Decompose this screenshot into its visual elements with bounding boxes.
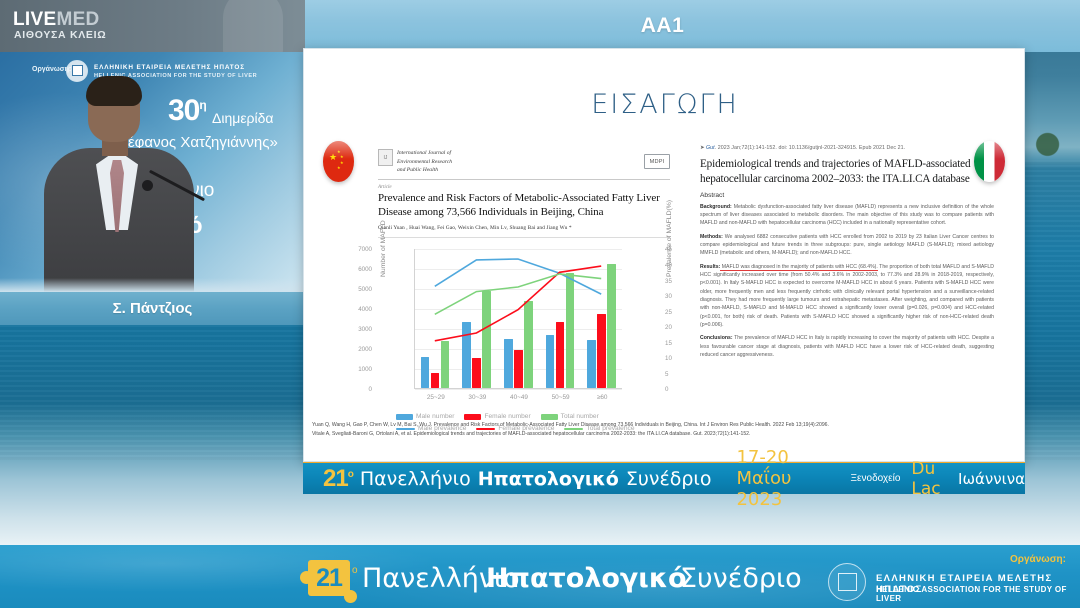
chart-ytick-right: 30 <box>665 293 691 300</box>
screen: LIVEMED ΑΙΘΟΥΣΑ ΚΛΕΙΩ AA1 Οργάνωση: ΕΛΛΗ… <box>0 0 1080 608</box>
page-footer: 21 ο Πανελλήνιο Ηπατολογικό Συνέδριο Οργ… <box>0 545 1080 608</box>
chart-ytick-right: 25 <box>665 309 691 316</box>
right-article-citation: ➤ Gut. 2023 Jan;72(1):141-152. doi: 10.1… <box>700 145 994 151</box>
footer-word3: Συνέδριο <box>680 563 802 594</box>
journal-identity: IJ International Journal of Environmenta… <box>378 149 452 175</box>
footer-number-sup: ο <box>352 565 358 576</box>
abstract-section-text: The proportion of both total MAFLD and S… <box>700 264 994 328</box>
chart-ytick-right: 15 <box>665 340 691 347</box>
chart-bar <box>431 373 440 388</box>
abstract-section-text: Metabolic dysfunction-associated fatty l… <box>700 204 994 227</box>
footer-number: 21 <box>316 564 342 593</box>
chart-bar <box>597 314 606 389</box>
citation-line: Vitale A, Svegliati-Baroni G, Ortolani A… <box>312 430 1018 439</box>
microphone-head-icon <box>142 180 153 191</box>
chart-ytick-left: 3000 <box>338 326 372 333</box>
livemed-med-text: MED <box>56 9 99 30</box>
flag-gloss <box>323 141 354 159</box>
left-article-title: Prevalence and Risk Factors of Metabolic… <box>378 192 670 220</box>
conference-dates: 17-20 Μαΐου 2023 <box>736 447 836 510</box>
journal-name-line1: International Journal of <box>397 149 452 158</box>
divider <box>378 179 670 180</box>
china-flag-icon: ★ ★ ★ ★ ★ <box>323 141 354 182</box>
abstract-section: Conclusions: The prevalence of MAFLD HCC… <box>700 334 994 359</box>
chart-bar-group <box>504 301 533 389</box>
video-bottom-fade <box>0 278 305 292</box>
abstract-section: Methods: We analysed 6882 consecutive pa… <box>700 233 994 258</box>
footer-society-en: HELLENIC ASSOCIATION FOR THE STUDY OF LI… <box>876 585 1080 603</box>
left-article: IJ International Journal of Environmenta… <box>378 149 670 454</box>
chart-xtick: 50~59 <box>541 394 581 401</box>
chart-bar <box>421 357 430 388</box>
chart-bar <box>514 350 523 388</box>
livemed-logo: LIVEMED <box>13 9 100 31</box>
chart-plot-area: 0100020003000400050006000700005101520253… <box>414 249 622 389</box>
conference-hotel-name: Du Lac <box>911 459 947 499</box>
conference-number: 21 <box>323 465 348 492</box>
chart-xtick: ≥60 <box>582 394 622 401</box>
abstract-section-label: Conclusions: <box>700 335 733 341</box>
publisher-badge: MDPI <box>644 154 670 169</box>
speaker-video[interactable]: Οργάνωση: ΕΛΛΗΝΙΚΗ ΕΤΑΙΡΕΙΑ ΜΕΛΕΤΗΣ ΗΠΑΤ… <box>0 52 305 292</box>
chart-xtick: 30~39 <box>457 394 497 401</box>
chart-xtick: 25~29 <box>416 394 456 401</box>
chart-ytick-right: 0 <box>665 386 691 393</box>
room-label: ΑΙΘΟΥΣΑ ΚΛΕΙΩ <box>14 29 106 41</box>
session-title-bar: AA1 <box>305 0 1080 52</box>
chart-ytick-right: 35 <box>665 278 691 285</box>
chart-legend-swatch <box>541 414 558 420</box>
chart-bar <box>462 322 471 388</box>
chart-gridline <box>415 389 622 390</box>
chart-bar <box>566 273 575 389</box>
puzzle-piece-watermark-icon <box>223 0 283 52</box>
chart-bar <box>504 339 513 388</box>
backdrop-edition: 30η <box>168 94 206 128</box>
right-article-citation-rest: . 2023 Jan;72(1):141-152. doi: 10.1136/g… <box>715 145 905 151</box>
abstract-section-text: The prevalence of MAFLD HCC in Italy is … <box>700 335 994 358</box>
chart-bar-group <box>421 341 450 388</box>
journal-name-line3: and Public Health <box>397 166 452 175</box>
chart-ytick-left: 1000 <box>338 366 372 373</box>
abstract-section: Results: MAFLD was diagnosed in the majo… <box>700 263 994 330</box>
backdrop-event: Διημερίδα <box>212 110 274 126</box>
chart-bar <box>556 322 565 388</box>
chart-bar-group <box>546 273 575 389</box>
footer-society-logo-inner-icon <box>838 573 857 591</box>
conference-word1: Πανελλήνιο <box>360 468 471 490</box>
speaker-name-bar: Σ. Πάντζιος <box>0 292 305 325</box>
chart-ytick-left: 0 <box>338 386 372 393</box>
chart-legend-swatch <box>464 414 481 420</box>
conference-edition-number: 21ο <box>323 465 353 493</box>
footer-word2: Ηπατολογικό <box>486 563 687 594</box>
livemed-live-text: LIVE <box>13 9 56 30</box>
chart-ytick-right: 45 <box>665 246 691 253</box>
speaker-name: Σ. Πάντζιος <box>113 300 193 317</box>
journal-name: International Journal of Environmental R… <box>397 149 452 175</box>
left-article-authors: Qianli Yuan , Huai Wang, Fei Gao, Weixin… <box>378 225 670 231</box>
abstract-section-text: We analysed 6882 consecutive patients wi… <box>700 234 994 257</box>
journal-header: IJ International Journal of Environmenta… <box>378 149 670 175</box>
chart-bar-group <box>462 291 491 388</box>
abstract-section-label: Background: <box>700 204 732 210</box>
backdrop-edition-sup: η <box>199 98 205 112</box>
conference-city: Ιωάννινα <box>958 470 1025 488</box>
chart-legend-label: Total number <box>561 413 599 420</box>
right-article-title: Epidemiological trends and trajectories … <box>700 157 994 187</box>
mafld-chart: Number of MAFLD Prevalence of MAFLD(%) 0… <box>378 243 670 439</box>
conference-banner: 21ο Πανελλήνιο Ηπατολογικό Συνέδριο 17-2… <box>303 462 1025 494</box>
abstract-section: Background: Metabolic dysfunction-associ… <box>700 203 994 228</box>
chart-ylabel-left: Number of MAFLD <box>380 221 387 278</box>
backdrop-edition-number: 30 <box>168 94 199 127</box>
chart-ytick-right: 20 <box>665 324 691 331</box>
abstract-body: Background: Metabolic dysfunction-associ… <box>700 203 994 360</box>
backdrop-society-gr: ΕΛΛΗΝΙΚΗ ΕΤΑΙΡΕΙΑ ΜΕΛΕΤΗΣ ΗΠΑΤΟΣ <box>94 64 245 71</box>
backdrop-society-logo-inner-icon <box>72 65 83 76</box>
right-article: ➤ Gut. 2023 Jan;72(1):141-152. doi: 10.1… <box>700 145 994 364</box>
chart-xtick: 40~49 <box>499 394 539 401</box>
chart-legend-bars: Male numberFemale numberTotal number <box>396 413 661 420</box>
citation-line: Yuan Q, Wang H, Gao P, Chen W, Lv M, Bai… <box>312 421 1018 430</box>
abstract-label: Abstract <box>700 192 994 199</box>
chart-bar <box>482 291 491 388</box>
chart-ytick-left: 4000 <box>338 306 372 313</box>
conference-hotel-label: Ξενοδοχείο <box>851 473 901 484</box>
chart-legend-swatch <box>396 414 413 420</box>
livemed-branding-strip: LIVEMED ΑΙΘΟΥΣΑ ΚΛΕΙΩ <box>0 0 305 52</box>
conference-word2: Ηπατολογικό <box>478 468 619 490</box>
article-type-label: Article <box>378 185 670 190</box>
abstract-section-label: Methods: <box>700 234 723 240</box>
chart-bar <box>587 340 596 389</box>
china-flag-star-4: ★ <box>337 165 341 170</box>
conference-number-sup: ο <box>348 469 353 480</box>
footer-puzzle-icon: 21 <box>308 560 350 596</box>
chart-ytick-left: 5000 <box>338 286 372 293</box>
chart-bar-group <box>587 264 616 388</box>
presentation-slide[interactable]: ΕΙΣΑΓΩΓΗ ★ ★ ★ ★ ★ IJ International Jour… <box>303 48 1025 462</box>
abstract-section-label: Results: <box>700 264 720 270</box>
chart-bar <box>441 341 450 388</box>
chart-bar <box>546 335 555 388</box>
chart-ytick-left: 7000 <box>338 246 372 253</box>
chart-ytick-left: 2000 <box>338 346 372 353</box>
abstract-highlight: MAFLD was diagnosed in the majority of p… <box>720 264 878 271</box>
slide-title: ΕΙΣΑΓΩΓΗ <box>304 89 1026 120</box>
chart-legend-item: Female number <box>464 413 530 420</box>
chart-legend-item: Male number <box>396 413 454 420</box>
chart-bar <box>524 301 533 389</box>
page-title: AA1 <box>641 14 685 38</box>
footer-org-label: Οργάνωση: <box>1010 554 1066 565</box>
journal-name-line2: Environmental Research <box>397 158 452 167</box>
chart-gridline <box>415 249 622 250</box>
chart-legend-label: Female number <box>484 413 530 420</box>
slide-citations: Yuan Q, Wang H, Gao P, Chen W, Lv M, Bai… <box>312 421 1018 439</box>
chart-legend-item: Total number <box>541 413 599 420</box>
conference-word3: Συνέδριο <box>626 468 712 490</box>
chart-ytick-right: 40 <box>665 262 691 269</box>
divider <box>378 237 670 238</box>
right-article-journal-name: Gut <box>706 145 715 151</box>
chart-ytick-right: 5 <box>665 371 691 378</box>
chart-ytick-left: 6000 <box>338 266 372 273</box>
journal-emblem-icon: IJ <box>378 149 393 166</box>
chart-bar <box>607 264 616 388</box>
chart-legend-label: Male number <box>416 413 454 420</box>
chart-bar <box>472 358 481 389</box>
chart-ytick-right: 10 <box>665 355 691 362</box>
speaker-hair <box>86 76 142 106</box>
